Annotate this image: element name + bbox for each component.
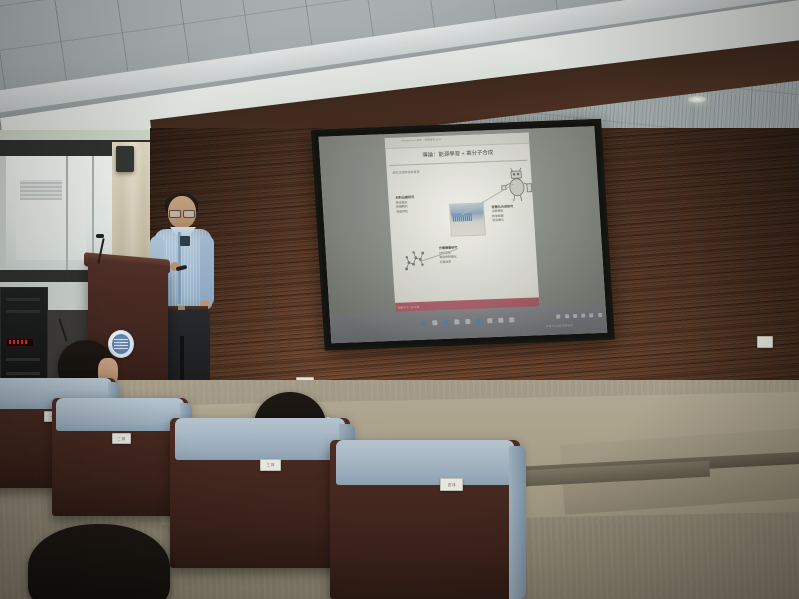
seat-number-plate: 四 排 <box>440 478 463 491</box>
taskbar-icon-powerpoint[interactable] <box>476 319 481 324</box>
wall-plate[interactable] <box>757 336 773 348</box>
slide-block-3-bullet: 智能優化 <box>492 218 514 223</box>
seat-number-plate: 三 排 <box>260 459 281 471</box>
badge-icon <box>180 236 190 246</box>
seat[interactable]: 四 排 <box>330 440 520 599</box>
presentation-status-text: 投影片 3 / 28 中文 <box>398 305 419 310</box>
glasses-icon <box>169 210 195 216</box>
taskbar-icon-app[interactable] <box>510 318 515 323</box>
robot-illustration-icon <box>497 166 535 202</box>
microphone-icon <box>96 234 104 238</box>
slide-block-2-bullet: 光電效率 <box>440 259 459 264</box>
rack-led-display <box>6 338 34 347</box>
tray-icon-cloud[interactable] <box>589 313 593 317</box>
audience-head <box>28 524 170 599</box>
seat[interactable]: 二 排 <box>52 398 188 516</box>
tray-icon-chevron[interactable] <box>598 313 602 317</box>
window-blind <box>20 180 62 200</box>
projection-screen[interactable]: PowerPoint 放映 - 演講簡報.pptx 導論：能源學習 + 高分子合… <box>311 119 615 351</box>
slide-block-1-heading: 材料出處研究 <box>395 195 414 200</box>
slide-block-3: 智慧化合成研究 演算模型 數據驅動 智能優化 <box>491 204 514 223</box>
taskbar-icon-word[interactable] <box>488 319 493 324</box>
seat-number-plate: 二 排 <box>112 433 131 444</box>
podium-emblem-icon <box>108 330 134 358</box>
tray-icon-volume[interactable] <box>565 314 569 318</box>
taskbar-icon-excel[interactable] <box>499 318 504 323</box>
lecture-hall-photo: PowerPoint 放映 - 演講簡報.pptx 導論：能源學習 + 高分子合… <box>0 0 799 599</box>
wall-speaker <box>116 146 134 172</box>
taskbar-icon-search[interactable] <box>432 321 437 326</box>
taskbar-icon-explorer[interactable] <box>443 320 448 325</box>
microphone-stem-icon <box>58 318 67 341</box>
downlight-icon <box>688 96 706 103</box>
projected-image: PowerPoint 放映 - 演講簡報.pptx 導論：能源學習 + 高分子合… <box>318 126 607 343</box>
slide-block-1: 材料出處研究 單体設計 結構解析 性能評估 <box>395 195 415 214</box>
lab-photo-thumbnail-icon <box>449 203 486 237</box>
seat[interactable]: 三 排 <box>170 418 350 568</box>
taskbar-icon-start[interactable] <box>421 321 426 326</box>
slide-block-1-bullet: 性能評估 <box>396 209 415 214</box>
molecule-sketch-icon <box>399 246 434 274</box>
tray-icon-battery[interactable] <box>573 314 577 318</box>
taskbar-icon-mail[interactable] <box>465 319 470 324</box>
tray-icon-ime[interactable] <box>581 313 585 317</box>
window-mullion <box>66 154 68 274</box>
presenter-arm-right <box>200 236 214 306</box>
taskbar-icon-browser[interactable] <box>454 320 459 325</box>
tray-icon-network[interactable] <box>556 314 560 318</box>
taskbar-clock[interactable]: 中 英 午 14:32 2024/5/18 <box>546 323 573 328</box>
